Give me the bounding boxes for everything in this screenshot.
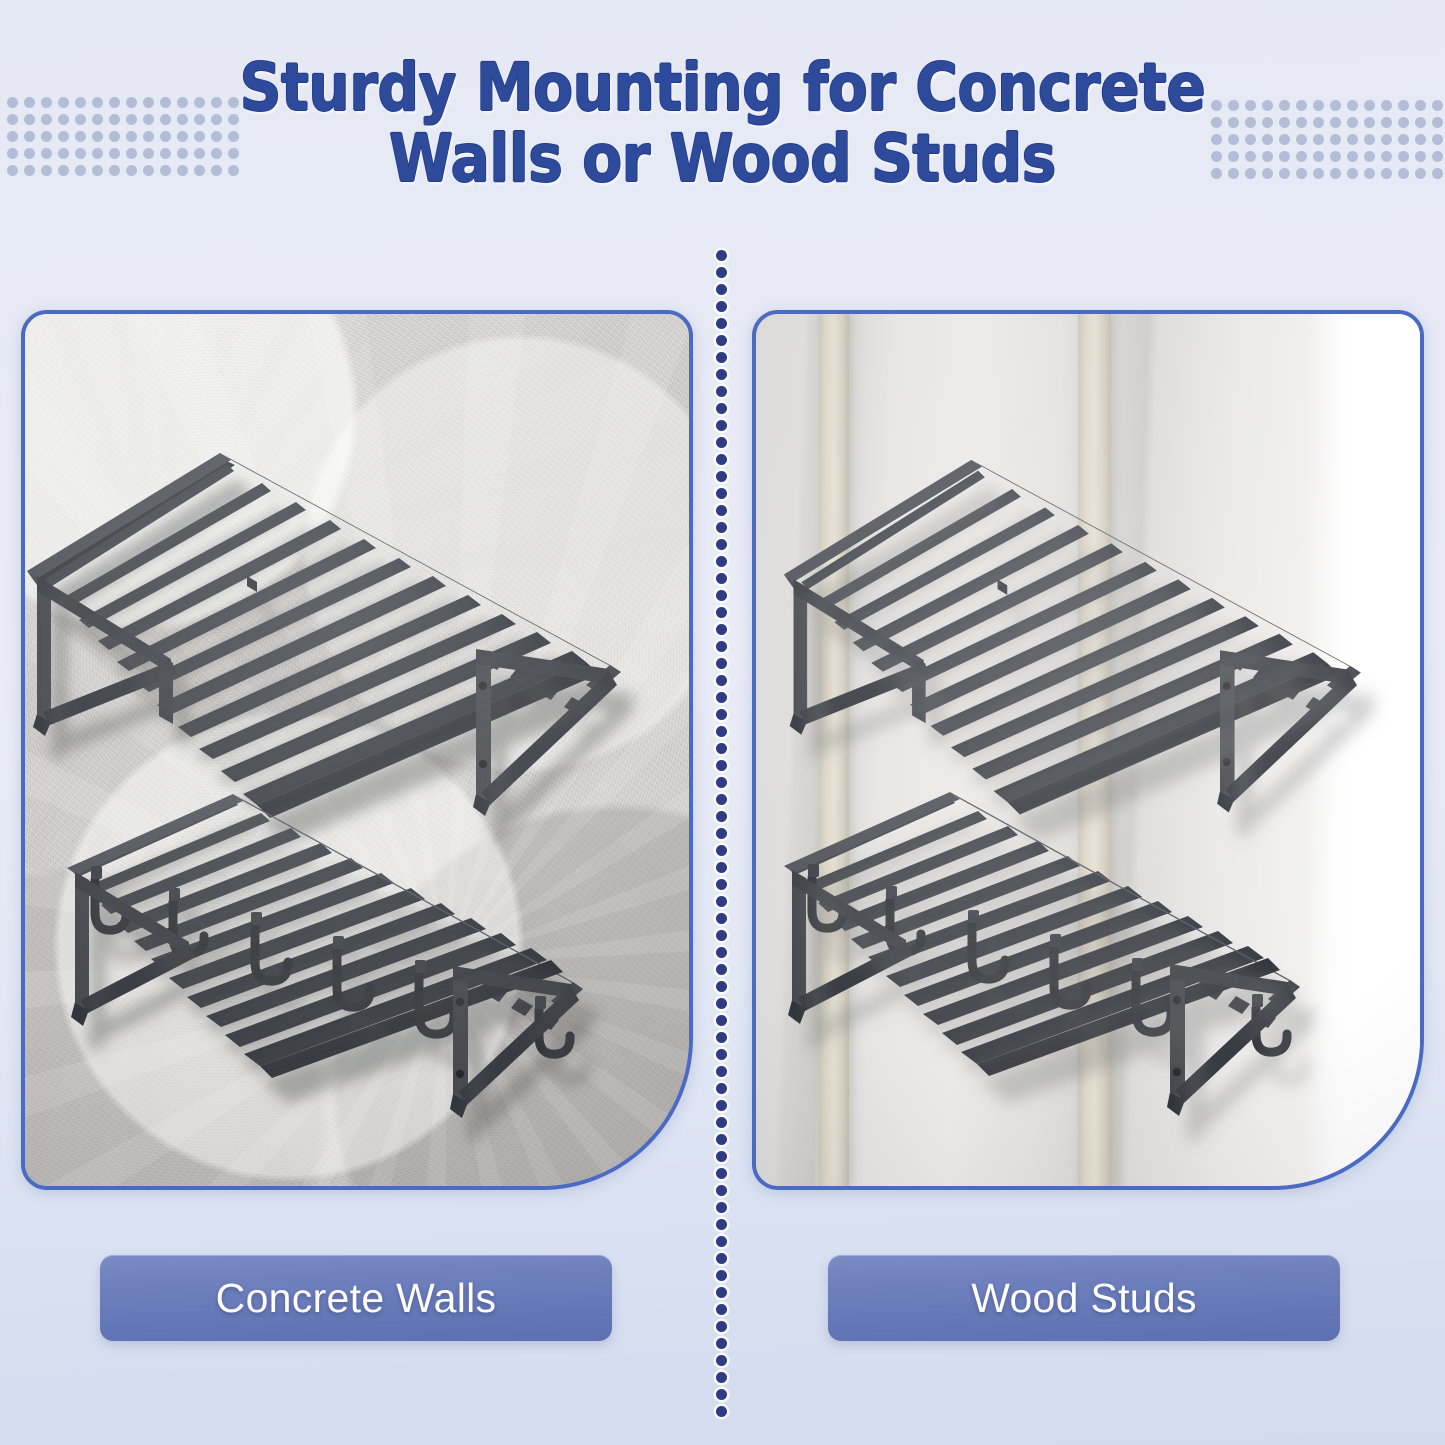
divider-dot [716,539,727,550]
decorative-dot [1364,151,1375,162]
caption-label-concrete-walls: Concrete Walls [216,1275,497,1322]
decorative-dot [24,131,35,142]
divider-dot [716,1168,727,1179]
decorative-dot [58,148,69,159]
decorative-dot [1415,100,1426,111]
decorative-dot [1398,100,1409,111]
decorative-dot [58,114,69,125]
caption-pill-wood-studs: Wood Studs [828,1255,1340,1341]
decorative-dot [75,97,86,108]
divider-dot [716,437,727,448]
divider-dot [716,675,727,686]
divider-dot [716,760,727,771]
divider-dot [716,318,727,329]
divider-dot [716,1083,727,1094]
divider-dot [716,403,727,414]
divider-dot [716,981,727,992]
shelf-lower-wood [780,782,1420,1162]
divider-dot [716,1270,727,1281]
panel-concrete-walls [21,310,693,1190]
divider-dot [716,641,727,652]
decorative-dot [41,131,52,142]
divider-dot [716,1134,727,1145]
divider-dot [716,1236,727,1247]
decorative-dot [1415,117,1426,128]
divider-dot [716,1355,727,1366]
caption-pill-concrete-walls: Concrete Walls [100,1255,612,1341]
decorative-dot [1415,168,1426,179]
divider-dot [716,896,727,907]
divider-dot [716,1049,727,1060]
divider-dot [716,777,727,788]
divider-dot [716,1151,727,1162]
panel-concrete-image [25,314,689,1186]
panel-wood-studs [752,310,1424,1190]
decorative-dot [1364,134,1375,145]
decorative-dot [1432,100,1443,111]
divider-dot [716,1406,727,1417]
divider-dot [716,573,727,584]
decorative-dot [24,114,35,125]
page-title: Sturdy Mounting for Concrete Walls or Wo… [87,52,1359,195]
decorative-dot [58,165,69,176]
dotted-divider [716,250,727,1422]
divider-dot [716,879,727,890]
decorative-dot [1381,100,1392,111]
divider-dot [716,1185,727,1196]
divider-dot [716,1389,727,1400]
divider-dot [716,250,727,261]
divider-dot [716,1202,727,1213]
divider-dot [716,913,727,924]
decorative-dot [24,165,35,176]
divider-dot [716,284,727,295]
shelf-upper-wood [778,426,1420,826]
divider-dot [716,1253,727,1264]
divider-dot [716,1219,727,1230]
decorative-dot [1432,117,1443,128]
decorative-dot [75,165,86,176]
divider-dot [716,862,727,873]
divider-dot [716,1287,727,1298]
decorative-dot [1381,151,1392,162]
divider-dot [716,607,727,618]
decorative-dot [1398,134,1409,145]
divider-dot [716,335,727,346]
divider-dot [716,420,727,431]
divider-dot [716,1338,727,1349]
divider-dot [716,471,727,482]
divider-dot [716,522,727,533]
shelf-upper-concrete [25,424,689,824]
divider-dot [716,692,727,703]
divider-dot [716,964,727,975]
decorative-dot [58,97,69,108]
decorative-dot [1381,168,1392,179]
divider-dot [716,488,727,499]
infographic-canvas: Sturdy Mounting for Concrete Walls or Wo… [0,0,1445,1445]
divider-dot [716,352,727,363]
divider-dot [716,794,727,805]
caption-label-wood-studs: Wood Studs [971,1275,1197,1322]
decorative-dot [7,131,18,142]
decorative-dot [75,131,86,142]
decorative-dot [1364,168,1375,179]
divider-dot [716,743,727,754]
decorative-dot [1364,117,1375,128]
decorative-dot [1398,117,1409,128]
divider-dot [716,726,727,737]
decorative-dot [1432,134,1443,145]
divider-dot [716,998,727,1009]
divider-dot [716,658,727,669]
divider-dot [716,369,727,380]
decorative-dot [1364,100,1375,111]
decorative-dot [24,148,35,159]
divider-dot [716,930,727,941]
divider-dot [716,828,727,839]
divider-dot [716,1015,727,1026]
decorative-dot [1415,151,1426,162]
divider-dot [716,590,727,601]
divider-dot [716,556,727,567]
divider-dot [716,947,727,958]
decorative-dot [1432,168,1443,179]
divider-dot [716,1304,727,1315]
decorative-dot [7,165,18,176]
divider-dot [716,454,727,465]
divider-dot [716,505,727,516]
divider-dot [716,1066,727,1077]
divider-dot [716,811,727,822]
divider-dot [716,845,727,856]
divider-dot [716,301,727,312]
divider-dot [716,624,727,635]
decorative-dot [41,165,52,176]
divider-dot [716,386,727,397]
decorative-dot [7,97,18,108]
divider-dot [716,1321,727,1332]
decorative-dot [75,114,86,125]
decorative-dot [1381,134,1392,145]
decorative-dot [41,97,52,108]
divider-dot [716,1117,727,1128]
decorative-dot [7,114,18,125]
shelf-lower-concrete [63,784,689,1164]
decorative-dot [1432,151,1443,162]
panel-wood-studs-image [756,314,1420,1186]
decorative-dot [1415,134,1426,145]
divider-dot [716,1100,727,1111]
divider-dot [716,1372,727,1383]
decorative-dot [1381,117,1392,128]
decorative-dot [1398,168,1409,179]
decorative-dot [24,97,35,108]
decorative-dot [7,148,18,159]
decorative-dot [75,148,86,159]
decorative-dot [58,131,69,142]
divider-dot [716,267,727,278]
divider-dot [716,1032,727,1043]
divider-dot [716,709,727,720]
decorative-dot [41,114,52,125]
decorative-dot [1398,151,1409,162]
decorative-dot [41,148,52,159]
